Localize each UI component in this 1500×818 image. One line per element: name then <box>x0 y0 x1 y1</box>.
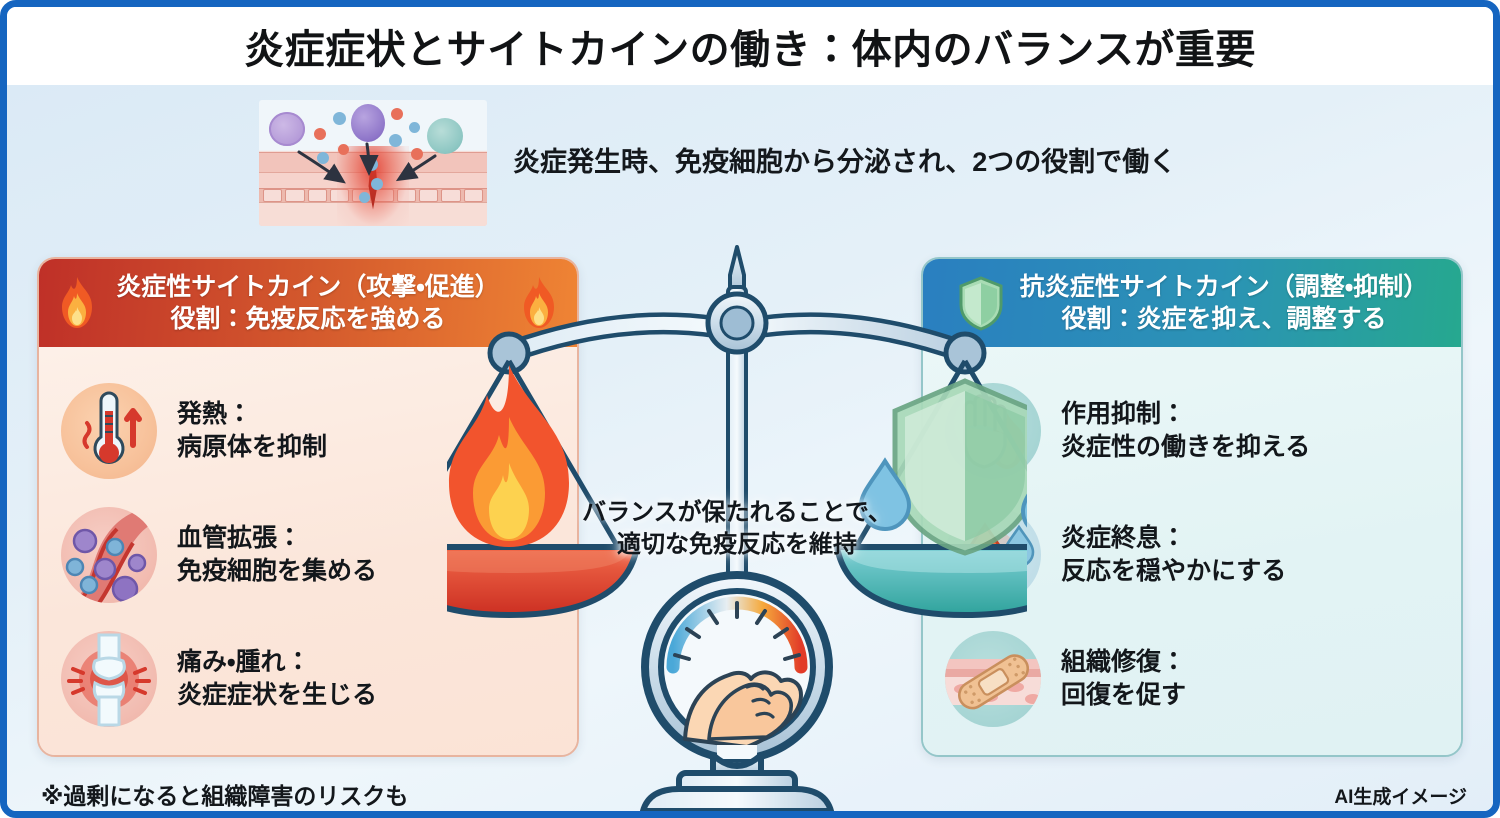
list-item-desc: 回復を促す <box>1061 679 1186 713</box>
shield-and-droplets-icon <box>861 381 1027 553</box>
anti-inflammatory-header-text: 抗炎症性サイトカイン（調整・抑制） 役割：炎症を抑え、調整する <box>1020 271 1429 335</box>
list-item-title: 血管拡張： <box>177 522 377 556</box>
list-item-desc: 炎症症状を生じる <box>177 679 377 713</box>
list-item-title: 組織修復： <box>1061 646 1186 680</box>
page-title: 炎症症状とサイトカインの働き：体内のバランスが重要 <box>244 17 1256 75</box>
right-pivot <box>946 334 984 372</box>
list-item-title: 痛み・腫れ： <box>177 646 377 680</box>
pro-header-line-2: 役割：免疫反応を強める <box>116 303 500 335</box>
list-item-title: 作用抑制： <box>1061 398 1310 432</box>
intro-text: 炎症発生時、免疫細胞から分泌され、2つの役割で働く <box>513 144 1176 180</box>
handshake-gauge-icon <box>643 575 831 811</box>
list-item-desc: 病原体を抑制 <box>177 431 327 465</box>
list-item-title: 発熱： <box>177 398 327 432</box>
fire-icon <box>52 275 102 331</box>
poster-body: 炎症発生時、免疫細胞から分泌され、2つの役割で働く 炎症性サイトカイン（攻撃・促… <box>7 85 1493 818</box>
list-item-text: 血管拡張： 免疫細胞を集める <box>177 522 377 589</box>
list-item-text: 組織修復： 回復を促す <box>1061 646 1186 713</box>
list-item-text: 痛み・腫れ： 炎症症状を生じる <box>177 646 377 713</box>
list-item-desc: 免疫細胞を集める <box>177 555 377 589</box>
list-item-text: 炎症終息： 反応を穏やかにする <box>1061 522 1286 589</box>
pro-inflammatory-header-text: 炎症性サイトカイン（攻撃・促進） 役割：免疫反応を強める <box>116 271 500 335</box>
title-bar: 炎症症状とサイトカインの働き：体内のバランスが重要 <box>7 7 1493 85</box>
scale-beam <box>507 294 967 353</box>
blood-vessel-icon <box>61 507 157 603</box>
footnote: ※過剰になると組織障害のリスクも <box>41 777 408 811</box>
intro-row: 炎症発生時、免疫細胞から分泌され、2つの役割で働く <box>259 95 1269 230</box>
inflamed-tissue-illustration <box>259 100 487 226</box>
anti-header-line-1: 抗炎症性サイトカイン（調整・抑制） <box>1020 271 1429 303</box>
anti-header-line-2: 役割：炎症を抑え、調整する <box>1020 303 1429 335</box>
pro-header-line-1: 炎症性サイトカイン（攻撃・促進） <box>116 271 500 303</box>
credit-label: AI生成イメージ <box>1334 782 1467 809</box>
secretion-arrows-icon <box>259 100 487 226</box>
list-item-text: 発熱： 病原体を抑制 <box>177 398 327 465</box>
flame-icon <box>449 365 569 547</box>
list-item-desc: 炎症性の働きを抑える <box>1061 431 1310 465</box>
list-item-desc: 反応を穏やかにする <box>1061 555 1286 589</box>
list-item-text: 作用抑制： 炎症性の働きを抑える <box>1061 398 1310 465</box>
list-item-title: 炎症終息： <box>1061 522 1286 556</box>
right-pan <box>837 361 1027 615</box>
painful-joint-icon <box>61 631 157 727</box>
left-pan <box>447 361 637 615</box>
thermometer-icon <box>61 383 157 479</box>
balance-scale <box>447 235 1027 815</box>
infographic-poster: 炎症症状とサイトカインの働き：体内のバランスが重要 <box>0 0 1500 818</box>
